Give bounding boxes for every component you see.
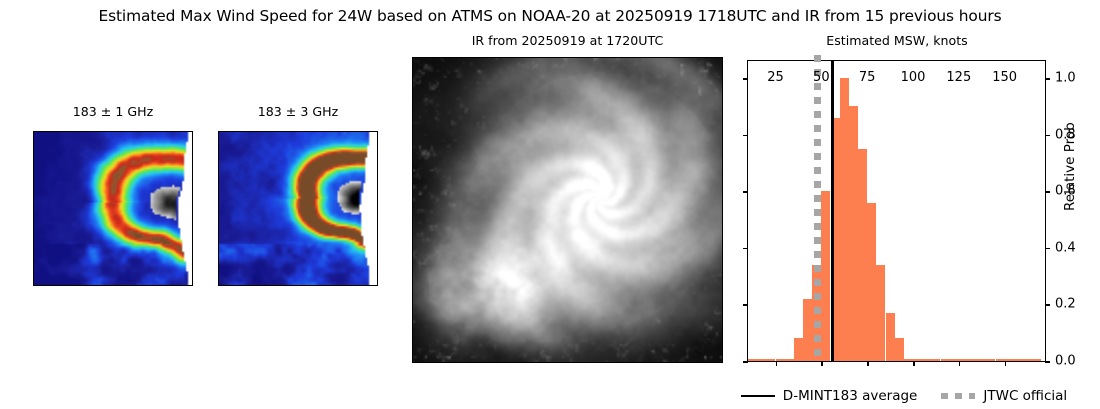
x-axis-tick xyxy=(867,361,869,366)
x-axis-tick xyxy=(1005,361,1007,366)
y-axis-tick xyxy=(1045,304,1050,306)
y-axis-tick xyxy=(743,304,748,306)
y-axis-tick xyxy=(1045,135,1050,137)
histogram-bar xyxy=(950,359,959,361)
ir-canvas xyxy=(413,58,722,362)
legend-entry-jtwc: JTWC official xyxy=(941,388,1067,404)
y-axis-tick xyxy=(1045,191,1050,193)
histogram-bar xyxy=(986,359,995,361)
histogram-bar xyxy=(840,78,849,361)
x-axis-tick xyxy=(776,361,778,366)
dmint183-average-line xyxy=(831,61,833,361)
histogram-bar xyxy=(785,359,794,361)
y-axis-tick-label: 1.0 xyxy=(1055,70,1076,85)
jtwc-official-line xyxy=(814,55,821,361)
histogram-y-axis-label: Relative Prob xyxy=(1062,122,1078,211)
ir-satellite-image xyxy=(412,57,723,363)
x-axis-tick-label: 150 xyxy=(992,70,1017,85)
microwave-183-3ghz-image xyxy=(218,131,378,286)
microwave-2-canvas xyxy=(219,132,377,285)
histogram-bar xyxy=(996,359,1005,361)
x-axis-tick-label: 100 xyxy=(901,70,926,85)
y-axis-tick-label: 0.0 xyxy=(1055,354,1076,369)
x-axis-tick xyxy=(959,361,961,366)
x-axis-tick-label: 75 xyxy=(859,70,876,85)
histogram-bar xyxy=(766,359,775,361)
histogram-bar xyxy=(1032,359,1041,361)
legend-dashed-line-icon xyxy=(941,393,975,400)
histogram-bar xyxy=(1023,359,1032,361)
y-axis-tick xyxy=(1045,248,1050,250)
x-axis-tick-label: 50 xyxy=(813,70,830,85)
ir-panel-title: IR from 20250919 at 1720UTC xyxy=(412,33,723,49)
x-axis-tick-label: 125 xyxy=(946,70,971,85)
histogram-bar xyxy=(757,359,766,361)
figure-canvas: Estimated Max Wind Speed for 24W based o… xyxy=(0,0,1100,409)
figure-main-title: Estimated Max Wind Speed for 24W based o… xyxy=(0,6,1100,26)
y-axis-tick xyxy=(1045,78,1050,80)
histogram-bar xyxy=(849,106,858,361)
y-axis-tick xyxy=(743,361,748,363)
histogram-bar xyxy=(904,359,913,361)
x-axis-tick xyxy=(821,361,823,366)
microwave-183-1ghz-image xyxy=(33,131,193,286)
microwave-2-title: 183 ± 3 GHz xyxy=(218,104,378,120)
histogram-bar xyxy=(886,313,895,361)
y-axis-tick xyxy=(743,78,748,80)
legend-solid-line-icon xyxy=(741,395,775,397)
histogram-bar xyxy=(1014,359,1023,361)
histogram-title: Estimated MSW, knots xyxy=(747,33,1047,49)
y-axis-tick xyxy=(1045,361,1050,363)
histogram-bar xyxy=(931,359,940,361)
histogram-bar xyxy=(922,359,931,361)
histogram-bar xyxy=(941,359,950,361)
histogram-bar xyxy=(794,338,803,361)
legend-entry-dmint183: D-MINT183 average xyxy=(741,388,918,404)
y-axis-tick xyxy=(743,191,748,193)
histogram-bar xyxy=(895,338,904,361)
figure-legend: D-MINT183 average JTWC official xyxy=(714,385,1094,407)
y-axis-tick xyxy=(743,135,748,137)
histogram-bar xyxy=(867,203,876,361)
legend-label-dmint183: D-MINT183 average xyxy=(783,388,918,404)
histogram-bar xyxy=(968,359,977,361)
legend-label-jtwc: JTWC official xyxy=(983,388,1067,404)
histogram-bar xyxy=(748,359,757,361)
x-axis-tick-label: 25 xyxy=(767,70,784,85)
histogram-bar xyxy=(876,265,885,361)
histogram-bar xyxy=(858,149,867,361)
histogram-plot-area xyxy=(748,61,1045,361)
microwave-1-title: 183 ± 1 GHz xyxy=(33,104,193,120)
y-axis-tick-label: 0.2 xyxy=(1055,297,1076,312)
histogram-bar xyxy=(977,359,986,361)
y-axis-tick xyxy=(743,248,748,250)
histogram-axes: 2550751001251500.00.20.40.60.81.0 xyxy=(747,60,1046,362)
histogram-bar xyxy=(821,191,830,361)
histogram-bar xyxy=(803,299,812,361)
y-axis-tick-label: 0.4 xyxy=(1055,240,1076,255)
microwave-1-canvas xyxy=(34,132,192,285)
x-axis-tick xyxy=(913,361,915,366)
